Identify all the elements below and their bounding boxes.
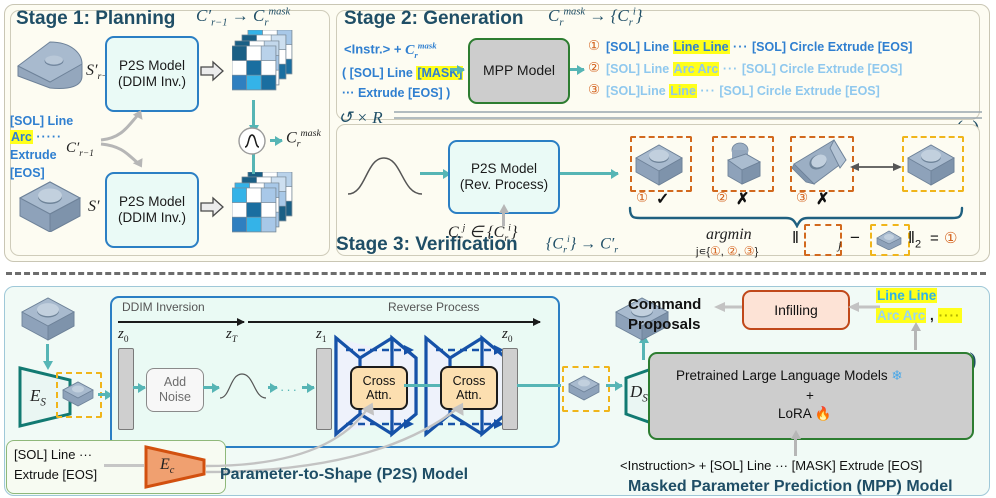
argmin-sub: j∊{①, ②, ③} — [696, 244, 758, 258]
arrow-z0-to-addnoise — [133, 386, 145, 389]
noise-curve-icon — [218, 368, 268, 402]
compare-double-arrow — [850, 160, 902, 174]
cross-attn-label-1: Cross Attn. — [352, 374, 406, 403]
token-to-models-connector — [95, 104, 165, 170]
mpp-caption: Masked Parameter Prediction (MPP) Model — [628, 478, 953, 496]
stage1-title: Stage 1: Planning — [16, 8, 175, 30]
arrow-prompt-to-llm — [794, 438, 797, 456]
stage1-token-sol-line: [SOL] Line — [10, 114, 73, 128]
reverse-process-label: Reverse Process — [388, 300, 479, 314]
shape-wedge-1 — [10, 36, 88, 94]
latent-shape-right — [566, 372, 602, 402]
command-proposals-line1: Command — [628, 296, 701, 313]
z0-left-label: z0 — [118, 326, 129, 345]
llm-plus: + — [806, 388, 814, 403]
arrow-noise-dots-2 — [302, 386, 314, 389]
arrow-noise-to-p2s3 — [420, 172, 450, 175]
proposal-index-1: ① — [588, 38, 600, 54]
block-arrow-1 — [200, 60, 224, 82]
arrow-llm-to-tokens — [914, 330, 917, 350]
arrow-addnoise-to-noise — [203, 386, 219, 389]
cond-tokens-connector — [104, 464, 144, 467]
proposal-index-2: ② — [588, 60, 600, 76]
mpp-model-box: MPP Model — [468, 38, 570, 104]
p2s-model-name-3: P2S Model — [471, 161, 537, 177]
decoder-label: DS — [630, 382, 648, 404]
norm-open: ‖ — [792, 228, 799, 248]
latent-bar-z0-right — [502, 348, 518, 430]
proposal-index-3: ③ — [588, 82, 600, 98]
norm-target-shape — [874, 228, 904, 250]
infilling-label: Infilling — [774, 302, 818, 318]
arrow-p2s3-to-candidates — [560, 172, 618, 175]
p2s-caption: Parameter-to-Shape (P2S) Model — [220, 466, 468, 484]
ddim-inversion-arrow — [118, 321, 244, 323]
arrow-prompt-to-mpp — [450, 68, 464, 71]
z0-right-label: z0 — [502, 326, 513, 345]
candidate-shape-2 — [716, 140, 768, 186]
cond-encoder-Ec — [142, 444, 208, 490]
p2s-model-sub-1: (DDIM Inv.) — [118, 74, 186, 90]
mpp-output-tokens-l1: Line Line — [876, 288, 937, 303]
arrow-z0right-out — [517, 384, 561, 387]
norm-subscript-j: j — [838, 238, 841, 253]
proposal-text-3: [SOL]Line Line ··· [SOL] Circle Extrude … — [606, 84, 880, 98]
stage2-title: Stage 2: Generation — [344, 8, 524, 30]
latent-grid-1 — [232, 30, 302, 92]
candidate-shape-1 — [632, 140, 686, 186]
p2s-model-box-3: P2S Model (Rev. Process) — [448, 140, 560, 214]
stage1-formula: C′r−1 → Crmask — [196, 6, 290, 28]
norm-result: ① — [944, 229, 957, 247]
candidate-shape-3 — [790, 138, 852, 188]
latent-shape-left — [60, 378, 96, 408]
sigmoid-icon — [236, 126, 268, 156]
stage1-tokens-label: C′r−1 — [66, 140, 94, 159]
command-proposals-line2: Proposals — [628, 316, 701, 333]
snowflake-icon: ❄ — [891, 368, 902, 383]
stage2-prompt-line1: ( [SOL] Line [MASK] — [342, 66, 463, 80]
cond-encoder-label: Ec — [160, 456, 174, 476]
stage2-formula: Crmask → {Cri} — [548, 6, 643, 28]
stage3-condition: Crj ∈ {Cri} — [448, 222, 517, 244]
candidate-index-2: ② — [716, 190, 728, 206]
reverse-process-arrow — [248, 321, 540, 323]
llm-line1: Pretrained Large Language Models ❄ — [676, 368, 903, 384]
arrow-shape-to-encoder — [46, 344, 49, 362]
proposal-text-2: [SOL] Line Arc Arc ··· [SOL] Circle Extr… — [606, 62, 902, 76]
stage1-input2-label: S′ — [88, 198, 100, 216]
stage2-instr: <Instr.> + Crmask — [344, 40, 437, 59]
dots-noise: ··· — [280, 382, 299, 397]
arrow-sigmoid-to-cmask — [270, 139, 282, 142]
p2s-input-shape — [18, 294, 80, 342]
mpp-input-prompt: <Instruction> + [SOL] Line ··· [MASK] Ex… — [620, 458, 922, 473]
target-shape — [904, 140, 958, 186]
cond-tokens-line1: [SOL] Line ··· — [14, 447, 92, 462]
cross-attn-label-2: Cross Attn. — [442, 374, 496, 403]
infilling-box: Infilling — [742, 290, 850, 330]
arrow-mpp-to-proposals — [570, 68, 584, 71]
shape-cube-hole-1 — [14, 176, 86, 232]
latent-grid-2 — [232, 172, 302, 234]
ddim-inversion-label: DDIM Inversion — [122, 300, 205, 314]
encoder-label: ES — [30, 386, 46, 408]
p2s-model-name-2: P2S Model — [119, 194, 185, 210]
cond-tokens-line2: Extrude [EOS] — [14, 467, 97, 482]
arrow-grid1-to-sigmoid — [252, 100, 255, 126]
gaussian-curve-icon — [346, 152, 426, 200]
zT-label: zT — [226, 326, 237, 345]
add-noise-label: Add Noise — [147, 375, 203, 405]
block-arrow-2 — [200, 196, 224, 218]
mpp-model-name: MPP Model — [483, 62, 555, 79]
llm-line2: LoRA 🔥 — [778, 406, 832, 422]
argmin-label: argmin — [706, 226, 752, 244]
norm-minus: − — [850, 228, 860, 248]
norm-placeholder-box — [804, 224, 842, 256]
z1-label: z1 — [316, 326, 327, 345]
link-crossattn — [404, 384, 440, 387]
p2s-model-box-1: P2S Model (DDIM Inv.) — [105, 36, 199, 112]
p2s-model-name-1: P2S Model — [119, 58, 185, 74]
candidates-brace — [626, 206, 966, 228]
p2s-model-box-2: P2S Model (DDIM Inv.) — [105, 172, 199, 248]
fire-icon: 🔥 — [815, 406, 832, 421]
candidate-index-3: ③ — [796, 190, 808, 206]
norm-close: ‖2 — [908, 228, 921, 250]
stage1-output-label: Crmask — [286, 128, 321, 150]
panel-divider — [6, 272, 986, 275]
cond-to-crossattn-connectors — [200, 400, 500, 474]
p2s-model-sub-3: (Rev. Process) — [460, 177, 548, 193]
arrow-noise-dots-1 — [268, 386, 277, 389]
stage1-token-arc: Arc ····· — [10, 130, 62, 144]
norm-equals: = — [930, 230, 939, 247]
add-noise-box: Add Noise — [146, 368, 204, 412]
stage1-token-extrude: Extrude — [10, 148, 57, 162]
proposal-text-1: [SOL] Line Line Line ··· [SOL] Circle Ex… — [606, 40, 912, 54]
mpp-output-tokens-l2: Arc Arc , ···· — [876, 308, 962, 323]
arrow-decoder-to-output — [642, 342, 645, 360]
stage3-formula: {Cri} → C′r — [546, 234, 618, 256]
candidate-index-1: ① — [636, 190, 648, 206]
p2s-model-sub-2: (DDIM Inv.) — [118, 210, 186, 226]
stage2-prompt-line2: ··· Extrude [EOS] ) — [342, 86, 450, 100]
latent-bar-z0-left — [118, 348, 134, 430]
figure-root: (a) (b) Stage 1: Planning C′r−1 → Crmask… — [0, 0, 996, 498]
